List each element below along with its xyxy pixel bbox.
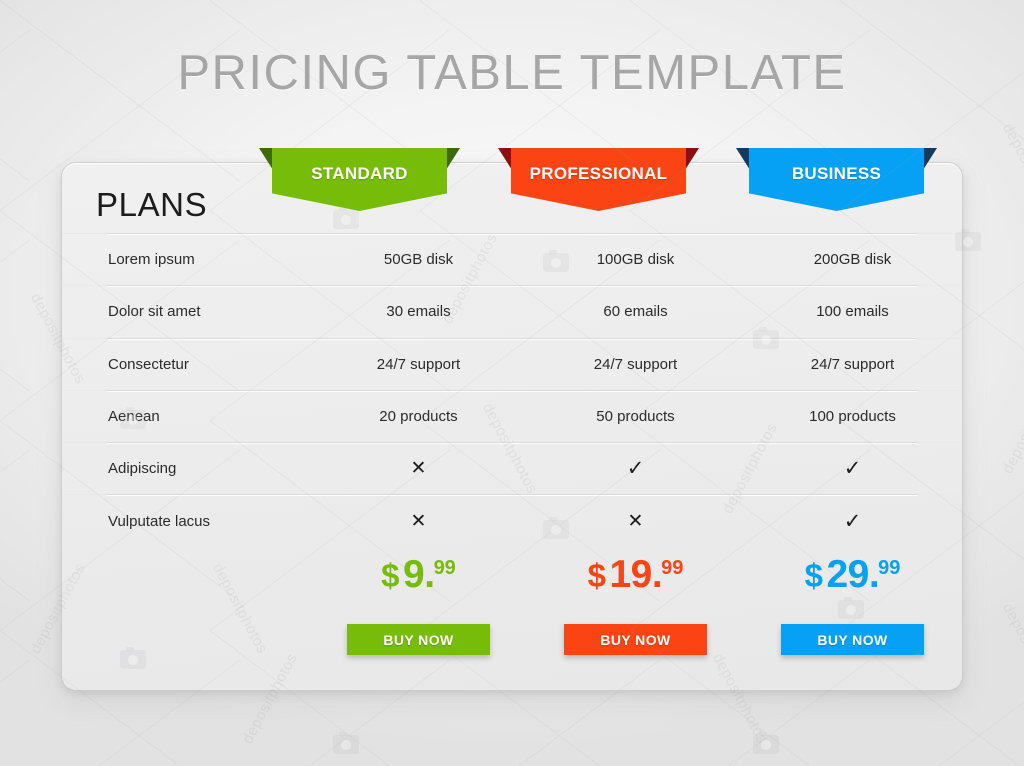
feature-label: Aenean: [62, 408, 310, 425]
price-decimals: 99: [434, 557, 456, 579]
price-professional: $19.99: [527, 553, 744, 611]
price-amount: 29.: [826, 553, 879, 596]
currency-symbol: $: [381, 557, 399, 594]
price-decimals: 99: [661, 557, 683, 579]
table-row: Vulputate lacus ✕ ✕ ✓: [62, 494, 962, 546]
camera-icon: [753, 735, 779, 754]
currency-symbol: $: [805, 557, 823, 594]
buy-now-button-professional[interactable]: BUY NOW: [564, 624, 707, 655]
table-row: Dolor sit amet 30 emails 60 emails 100 e…: [62, 285, 962, 337]
cross-icon: ✕: [628, 512, 644, 531]
watermark-line: [0, 0, 240, 1]
plan-name-professional: PROFESSIONAL: [511, 164, 686, 184]
camera-icon: [333, 735, 359, 754]
row-divider: [62, 233, 962, 234]
row-divider: [62, 285, 962, 286]
cell-business: 100 products: [744, 408, 961, 425]
watermark-line: [420, 0, 660, 1]
watermark-text: depositphotos: [999, 120, 1024, 216]
feature-label: Adipiscing: [62, 460, 310, 477]
feature-label: Lorem ipsum: [62, 251, 310, 268]
cell-standard: 30 emails: [310, 303, 527, 320]
watermark-line: [630, 0, 870, 1]
check-icon: ✓: [627, 458, 645, 479]
price-decimals: 99: [878, 557, 900, 579]
watermark-line: [0, 210, 30, 391]
cell-professional: ✕: [527, 512, 744, 531]
table-row: Consectetur 24/7 support 24/7 support 24…: [62, 338, 962, 390]
table-row: Lorem ipsum 50GB disk 100GB disk 200GB d…: [62, 233, 962, 285]
check-icon: ✓: [844, 511, 862, 532]
cell-business: 100 emails: [744, 303, 961, 320]
row-divider: [62, 494, 962, 495]
page-title: PRICING TABLE TEMPLATE: [0, 45, 1024, 101]
cell-standard: 20 products: [310, 408, 527, 425]
watermark-text: depositphotos: [999, 600, 1024, 696]
cell-professional: 24/7 support: [527, 356, 744, 373]
plan-ribbon-professional[interactable]: PROFESSIONAL: [511, 148, 686, 211]
watermark-line: [0, 630, 30, 766]
row-divider: [62, 442, 962, 443]
price-amount: 19.: [609, 553, 662, 596]
cell-professional: 60 emails: [527, 303, 744, 320]
plans-heading: PLANS: [96, 186, 207, 224]
buy-now-button-business[interactable]: BUY NOW: [781, 624, 924, 655]
plan-ribbon-business[interactable]: BUSINESS: [749, 148, 924, 211]
check-icon: ✓: [844, 458, 862, 479]
feature-label: Vulputate lacus: [62, 513, 310, 530]
cross-icon: ✕: [411, 459, 427, 478]
table-row: Adipiscing ✕ ✓ ✓: [62, 442, 962, 494]
cell-standard: 24/7 support: [310, 356, 527, 373]
cell-business: 24/7 support: [744, 356, 961, 373]
watermark-line: [0, 239, 30, 420]
cell-professional: 50 products: [527, 408, 744, 425]
row-divider: [62, 338, 962, 339]
watermark-line: [0, 659, 30, 766]
cell-business: 200GB disk: [744, 251, 961, 268]
feature-label: Consectetur: [62, 356, 310, 373]
buy-now-button-standard[interactable]: BUY NOW: [347, 624, 490, 655]
currency-symbol: $: [588, 557, 606, 594]
feature-label: Dolor sit amet: [62, 303, 310, 320]
plan-name-business: BUSINESS: [749, 164, 924, 184]
cell-standard: 50GB disk: [310, 251, 527, 268]
row-divider: [62, 390, 962, 391]
watermark-text: depositphotos: [999, 380, 1024, 476]
price-business: $29.99: [744, 553, 961, 611]
price-row: $9.99 $19.99 $29.99: [62, 553, 962, 611]
plan-ribbon-standard[interactable]: STANDARD: [272, 148, 447, 211]
cell-business: ✓: [744, 511, 961, 532]
buy-button-row: BUY NOW BUY NOW BUY NOW: [62, 624, 962, 655]
plan-name-standard: STANDARD: [272, 164, 447, 184]
cell-business: ✓: [744, 458, 961, 479]
price-standard: $9.99: [310, 553, 527, 611]
watermark-line: [0, 420, 30, 601]
watermark-line: [840, 0, 1024, 1]
cell-professional: 100GB disk: [527, 251, 744, 268]
watermark-line: [0, 449, 30, 630]
price-amount: 9.: [403, 553, 435, 596]
cell-standard: ✕: [310, 512, 527, 531]
watermark-line: [210, 0, 450, 1]
cell-professional: ✓: [527, 458, 744, 479]
cross-icon: ✕: [411, 512, 427, 531]
cell-standard: ✕: [310, 459, 527, 478]
table-row: Aenean 20 products 50 products 100 produ…: [62, 390, 962, 442]
watermark-line: [0, 0, 30, 1]
